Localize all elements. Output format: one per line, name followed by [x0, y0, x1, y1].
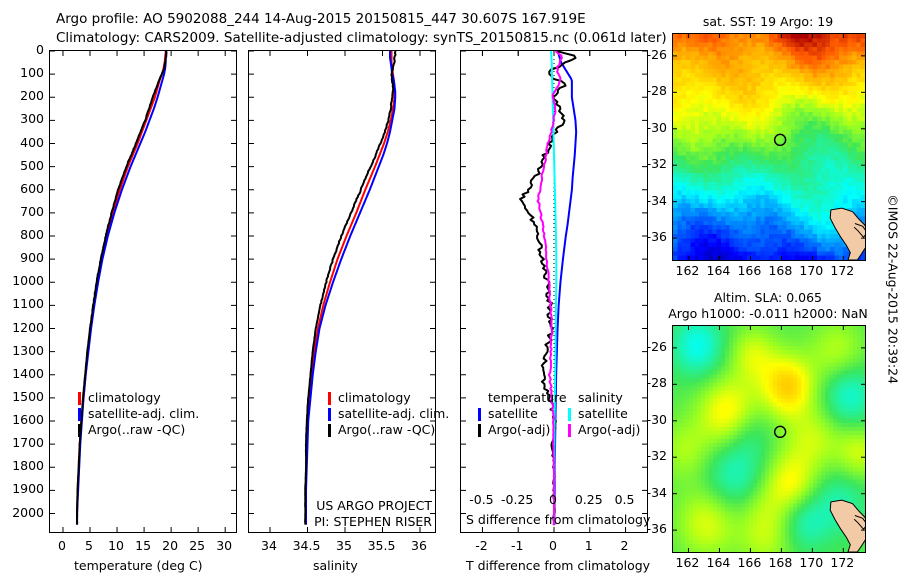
- salinity-x-axis-label: salinity: [313, 558, 358, 573]
- salinity-legend: climatology satellite-adj. clim. Argo(..…: [328, 390, 449, 438]
- sst-map-field: [673, 34, 865, 260]
- difference-s-axis-label: S difference from climatology: [466, 512, 650, 527]
- y-tick-label: -34: [635, 193, 667, 208]
- legend-label-salinity-argo-adj: Argo(-adj): [578, 422, 640, 438]
- salinity-profile-curves: [249, 51, 435, 532]
- x-tick-label: 172: [814, 263, 870, 278]
- difference-profile-curves: [461, 51, 647, 532]
- y-tick-label: 1700: [0, 435, 44, 450]
- y-tick-label: -30: [635, 412, 667, 427]
- legend-item-climatology: climatology: [78, 390, 199, 406]
- legend-item-argo: Argo(..raw -QC): [78, 422, 199, 438]
- legend-swatch-salinity-argo-adj: [568, 424, 571, 437]
- legend-header-temperature: temperature: [478, 390, 567, 406]
- y-tick-label: 2000: [0, 505, 44, 520]
- legend-item-satellite-adj: satellite-adj. clim.: [78, 406, 199, 422]
- credit-line-2: PI: STEPHEN RISER: [256, 514, 432, 530]
- salinity-profile-plot: [248, 50, 436, 533]
- legend-item-temperature-argo-adj: Argo(-adj): [478, 422, 567, 438]
- legend-label-temperature-satellite: satellite: [488, 406, 538, 422]
- temperature-x-axis-label: temperature (deg C): [74, 558, 203, 573]
- y-tick-label: 1100: [0, 296, 44, 311]
- legend-label-salinity-satellite: satellite: [578, 406, 628, 422]
- legend-swatch-temperature-argo-adj: [478, 424, 481, 437]
- y-tick-label: 1800: [0, 458, 44, 473]
- legend-swatch-spacer: [478, 392, 481, 405]
- page-title: Argo profile: AO 5902088_244 14-Aug-2015…: [56, 10, 696, 48]
- legend-swatch-satellite-adj: [78, 408, 81, 421]
- legend-label-temperature-header: temperature: [488, 390, 567, 406]
- y-tick-label: -32: [635, 156, 667, 171]
- y-tick-label: 1900: [0, 481, 44, 496]
- temperature-profile-plot: [49, 50, 237, 533]
- legend-item-argo: Argo(..raw -QC): [328, 422, 449, 438]
- legend-swatch-argo: [328, 424, 331, 437]
- legend-swatch-spacer: [568, 392, 571, 405]
- legend-header-salinity: salinity: [568, 390, 640, 406]
- y-tick-label: -26: [635, 339, 667, 354]
- y-tick-label: 100: [0, 65, 44, 80]
- legend-label-argo: Argo(..raw -QC): [88, 422, 185, 438]
- sst-map: [672, 33, 866, 261]
- y-tick-label: -32: [635, 448, 667, 463]
- sla-map-title-line-1: Altim. SLA: 0.065: [660, 290, 876, 305]
- y-tick-label: 600: [0, 181, 44, 196]
- difference-legend-salinity: salinity satellite Argo(-adj): [568, 390, 640, 438]
- y-tick-label: 900: [0, 250, 44, 265]
- y-tick-label: -36: [635, 229, 667, 244]
- difference-legend-temperature: temperature satellite Argo(-adj): [478, 390, 567, 438]
- legend-swatch-satellite-adj: [328, 408, 331, 421]
- legend-swatch-argo: [78, 424, 81, 437]
- legend-item-temperature-satellite: satellite: [478, 406, 567, 422]
- sst-map-title: sat. SST: 19 Argo: 19: [668, 14, 868, 29]
- y-tick-label: -26: [635, 47, 667, 62]
- y-tick-label: 1600: [0, 412, 44, 427]
- legend-swatch-climatology: [78, 392, 81, 405]
- sla-map: [672, 325, 866, 553]
- y-tick-label: 300: [0, 111, 44, 126]
- legend-label-satellite-adj: satellite-adj. clim.: [88, 406, 199, 422]
- legend-label-climatology: climatology: [88, 390, 161, 406]
- y-tick-label: -28: [635, 375, 667, 390]
- y-tick-label: 1500: [0, 389, 44, 404]
- legend-swatch-temperature-satellite: [478, 408, 481, 421]
- x-tick-label: 36: [391, 538, 447, 553]
- y-tick-label: -36: [635, 521, 667, 536]
- temperature-legend: climatology satellite-adj. clim. Argo(..…: [78, 390, 199, 438]
- y-tick-label: -34: [635, 485, 667, 500]
- copyright-notice: ©IMOS 22-Aug-2015 20:39:24: [886, 194, 900, 384]
- sla-map-field: [673, 326, 865, 552]
- temperature-profile-curves: [50, 51, 236, 532]
- legend-item-salinity-argo-adj: Argo(-adj): [568, 422, 640, 438]
- legend-swatch-salinity-satellite: [568, 408, 571, 421]
- y-tick-label: 200: [0, 88, 44, 103]
- legend-label-satellite-adj: satellite-adj. clim.: [338, 406, 449, 422]
- sla-map-title-line-2: Argo h1000: -0.011 h2000: NaN: [660, 306, 876, 321]
- legend-item-satellite-adj: satellite-adj. clim.: [328, 406, 449, 422]
- legend-item-climatology: climatology: [328, 390, 449, 406]
- legend-label-climatology: climatology: [338, 390, 411, 406]
- y-tick-label: 1400: [0, 366, 44, 381]
- difference-t-axis-label: T difference from climatology: [466, 558, 650, 573]
- y-tick-label: -30: [635, 120, 667, 135]
- title-line-2: Climatology: CARS2009. Satellite-adjuste…: [56, 30, 667, 46]
- legend-label-temperature-argo-adj: Argo(-adj): [488, 422, 550, 438]
- y-tick-label: 1300: [0, 343, 44, 358]
- title-line-1: Argo profile: AO 5902088_244 14-Aug-2015…: [56, 11, 586, 27]
- credit-line-1: US ARGO PROJECT: [256, 498, 432, 514]
- legend-label-argo: Argo(..raw -QC): [338, 422, 435, 438]
- legend-swatch-climatology: [328, 392, 331, 405]
- legend-item-salinity-satellite: satellite: [568, 406, 640, 422]
- y-tick-label: 400: [0, 135, 44, 150]
- y-tick-label: -28: [635, 83, 667, 98]
- x-tick-label: 172: [814, 555, 870, 570]
- project-credit: US ARGO PROJECT PI: STEPHEN RISER: [256, 498, 432, 530]
- y-tick-label: 700: [0, 204, 44, 219]
- difference-profile-plot: [460, 50, 648, 533]
- legend-label-salinity-header: salinity: [578, 390, 623, 406]
- y-tick-label: 500: [0, 158, 44, 173]
- x-tick-label: 2: [597, 538, 653, 553]
- y-tick-label: 800: [0, 227, 44, 242]
- y-tick-label: 0: [0, 42, 44, 57]
- y-tick-label: 1200: [0, 320, 44, 335]
- y-tick-label: 1000: [0, 273, 44, 288]
